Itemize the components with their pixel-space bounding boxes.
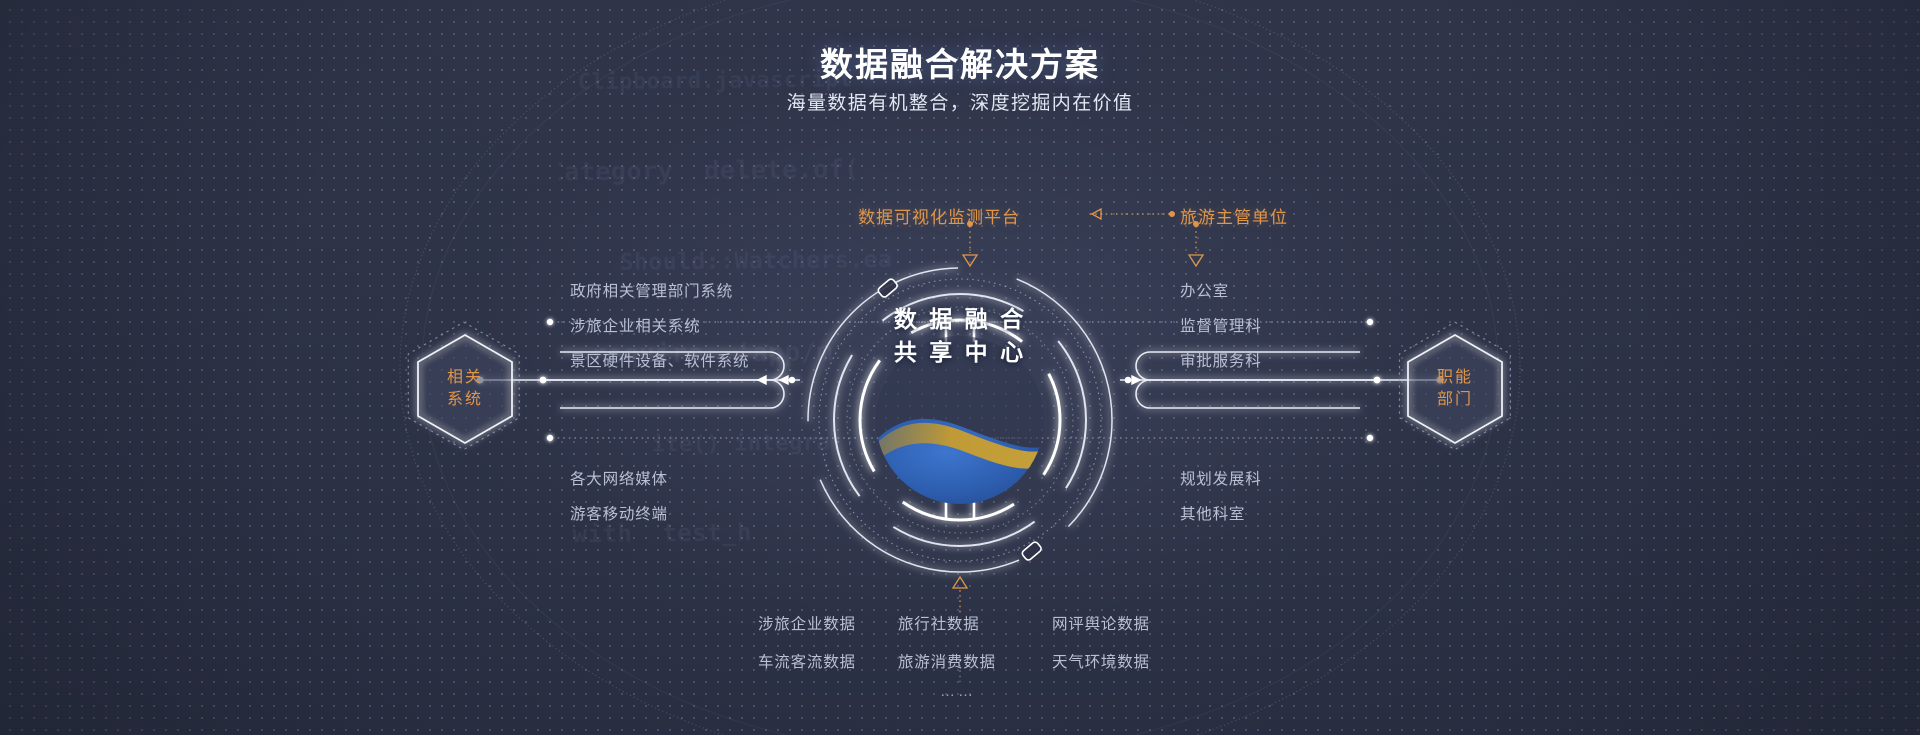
left-source-item[interactable]: 景区硬件设备、软件系统 bbox=[570, 349, 749, 371]
infographic-stage: Clipboard.javascript Category delete.of(… bbox=[0, 0, 1920, 735]
right-department-item[interactable]: 监督管理科 bbox=[1180, 314, 1262, 336]
bottom-data-item[interactable]: 旅游消费数据 bbox=[898, 650, 996, 672]
left-hexagon-line1: 相关 bbox=[405, 367, 525, 389]
right-hexagon-line1: 职能 bbox=[1395, 367, 1515, 389]
left-hexagon-label[interactable]: 相关 系统 bbox=[405, 367, 525, 410]
right-connectors bbox=[1120, 352, 1440, 408]
left-source-item[interactable]: 涉旅企业相关系统 bbox=[570, 314, 700, 336]
bottom-data-item[interactable]: 旅行社数据 bbox=[898, 612, 980, 634]
page-title: 数据融合解决方案 bbox=[0, 38, 1920, 86]
right-flow-arrows bbox=[1125, 376, 1140, 384]
left-source-item[interactable]: 政府相关管理部门系统 bbox=[570, 279, 733, 301]
bottom-data-item[interactable]: 车流客流数据 bbox=[758, 650, 856, 672]
right-hexagon-label[interactable]: 职能 部门 bbox=[1395, 367, 1515, 410]
bottom-data-item[interactable]: 网评舆论数据 bbox=[1052, 612, 1150, 634]
bottom-data-ellipsis: …… bbox=[940, 683, 976, 700]
right-department-item[interactable]: 规划发展科 bbox=[1180, 467, 1262, 489]
tourism-authority-label[interactable]: 旅游主管单位 bbox=[1180, 203, 1288, 228]
right-department-item[interactable]: 其他科室 bbox=[1180, 502, 1245, 524]
right-department-item[interactable]: 审批服务科 bbox=[1180, 349, 1262, 371]
visualization-platform-label[interactable]: 数据可视化监测平台 bbox=[858, 203, 1020, 228]
bottom-data-item[interactable]: 天气环境数据 bbox=[1052, 650, 1150, 672]
right-hexagon-line2: 部门 bbox=[1395, 389, 1515, 411]
left-source-item[interactable]: 游客移动终端 bbox=[570, 502, 668, 524]
core-sphere[interactable] bbox=[876, 336, 1044, 510]
left-hexagon-line2: 系统 bbox=[405, 389, 525, 411]
page-subtitle: 海量数据有机整合，深度挖掘内在价值 bbox=[0, 88, 1920, 115]
left-source-item[interactable]: 各大网络媒体 bbox=[570, 467, 668, 489]
bottom-data-item[interactable]: 涉旅企业数据 bbox=[758, 612, 856, 634]
right-department-item[interactable]: 办公室 bbox=[1180, 279, 1229, 301]
